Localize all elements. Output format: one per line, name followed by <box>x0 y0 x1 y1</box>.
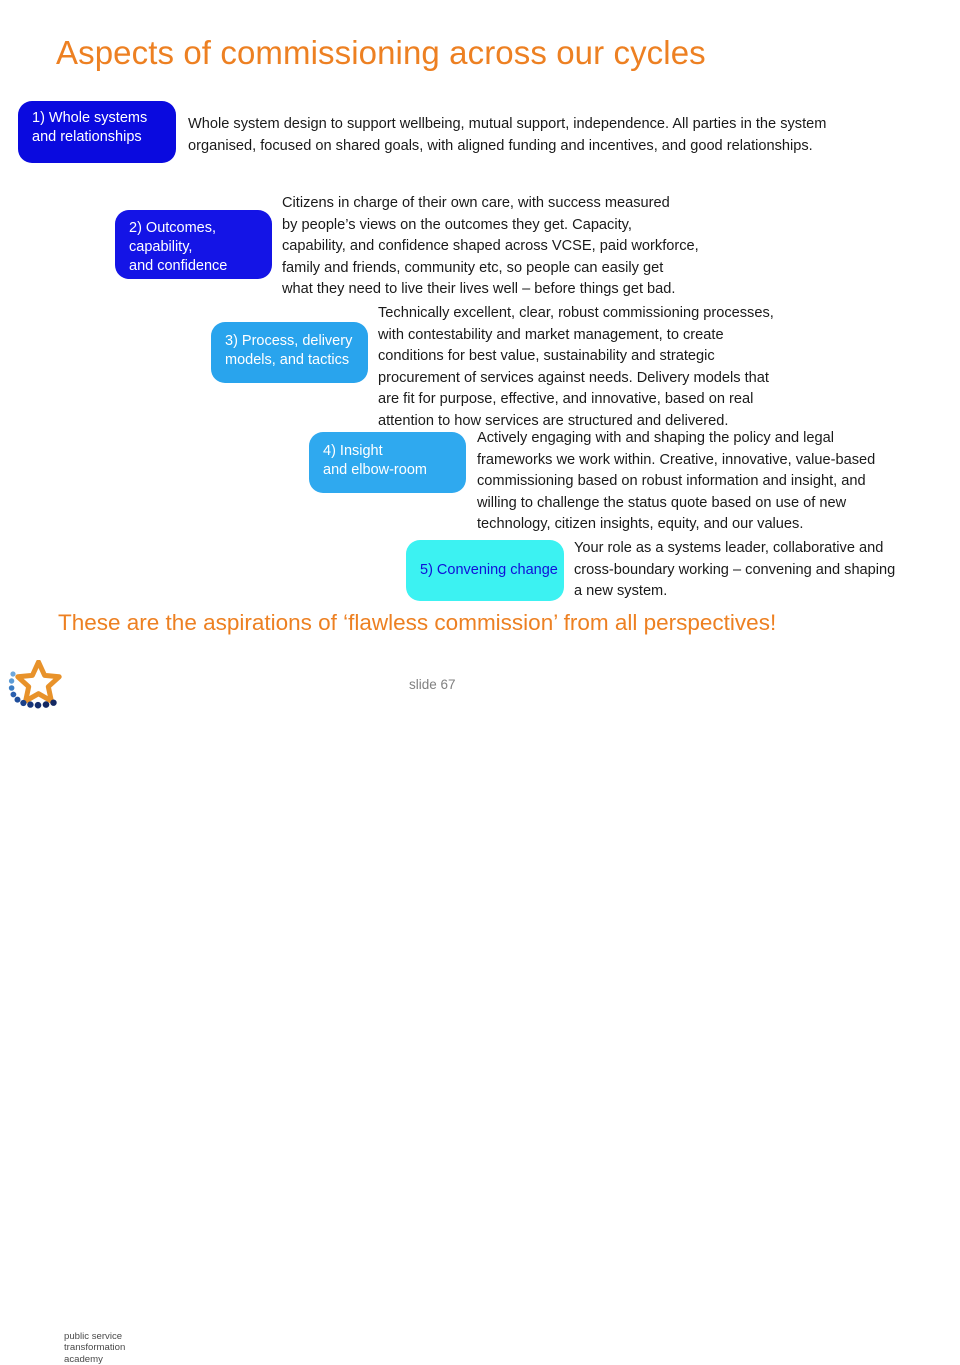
stage-description-3: Technically excellent, clear, robust com… <box>378 303 808 432</box>
slide-canvas: Aspects of commissioning across our cycl… <box>0 0 960 720</box>
logo-text: public service transformation academy <box>64 1331 125 1365</box>
stage-box-3[interactable]: 3) Process, delivery models, and tactics <box>211 322 368 383</box>
page-title: Aspects of commissioning across our cycl… <box>56 34 706 72</box>
stage-description-4: Actively engaging with and shaping the p… <box>477 428 907 536</box>
stage-description-5: Your role as a systems leader, collabora… <box>574 538 914 603</box>
stage-description-1: Whole system design to support wellbeing… <box>188 114 858 157</box>
summary-tagline: These are the aspirations of ‘flawless c… <box>58 610 776 636</box>
stage-box-4[interactable]: 4) Insight and elbow-room <box>309 432 466 493</box>
stage-box-1[interactable]: 1) Whole systems and relationships <box>18 101 176 163</box>
stage-box-2[interactable]: 2) Outcomes, capability, and confidence <box>115 210 272 279</box>
stage-description-2: Citizens in charge of their own care, wi… <box>282 193 722 301</box>
stage-box-5[interactable]: 5) Convening change <box>406 540 564 601</box>
slide-number: slide 67 <box>409 677 456 692</box>
logo: public service transformation academy <box>8 660 158 716</box>
star-icon <box>8 660 158 716</box>
